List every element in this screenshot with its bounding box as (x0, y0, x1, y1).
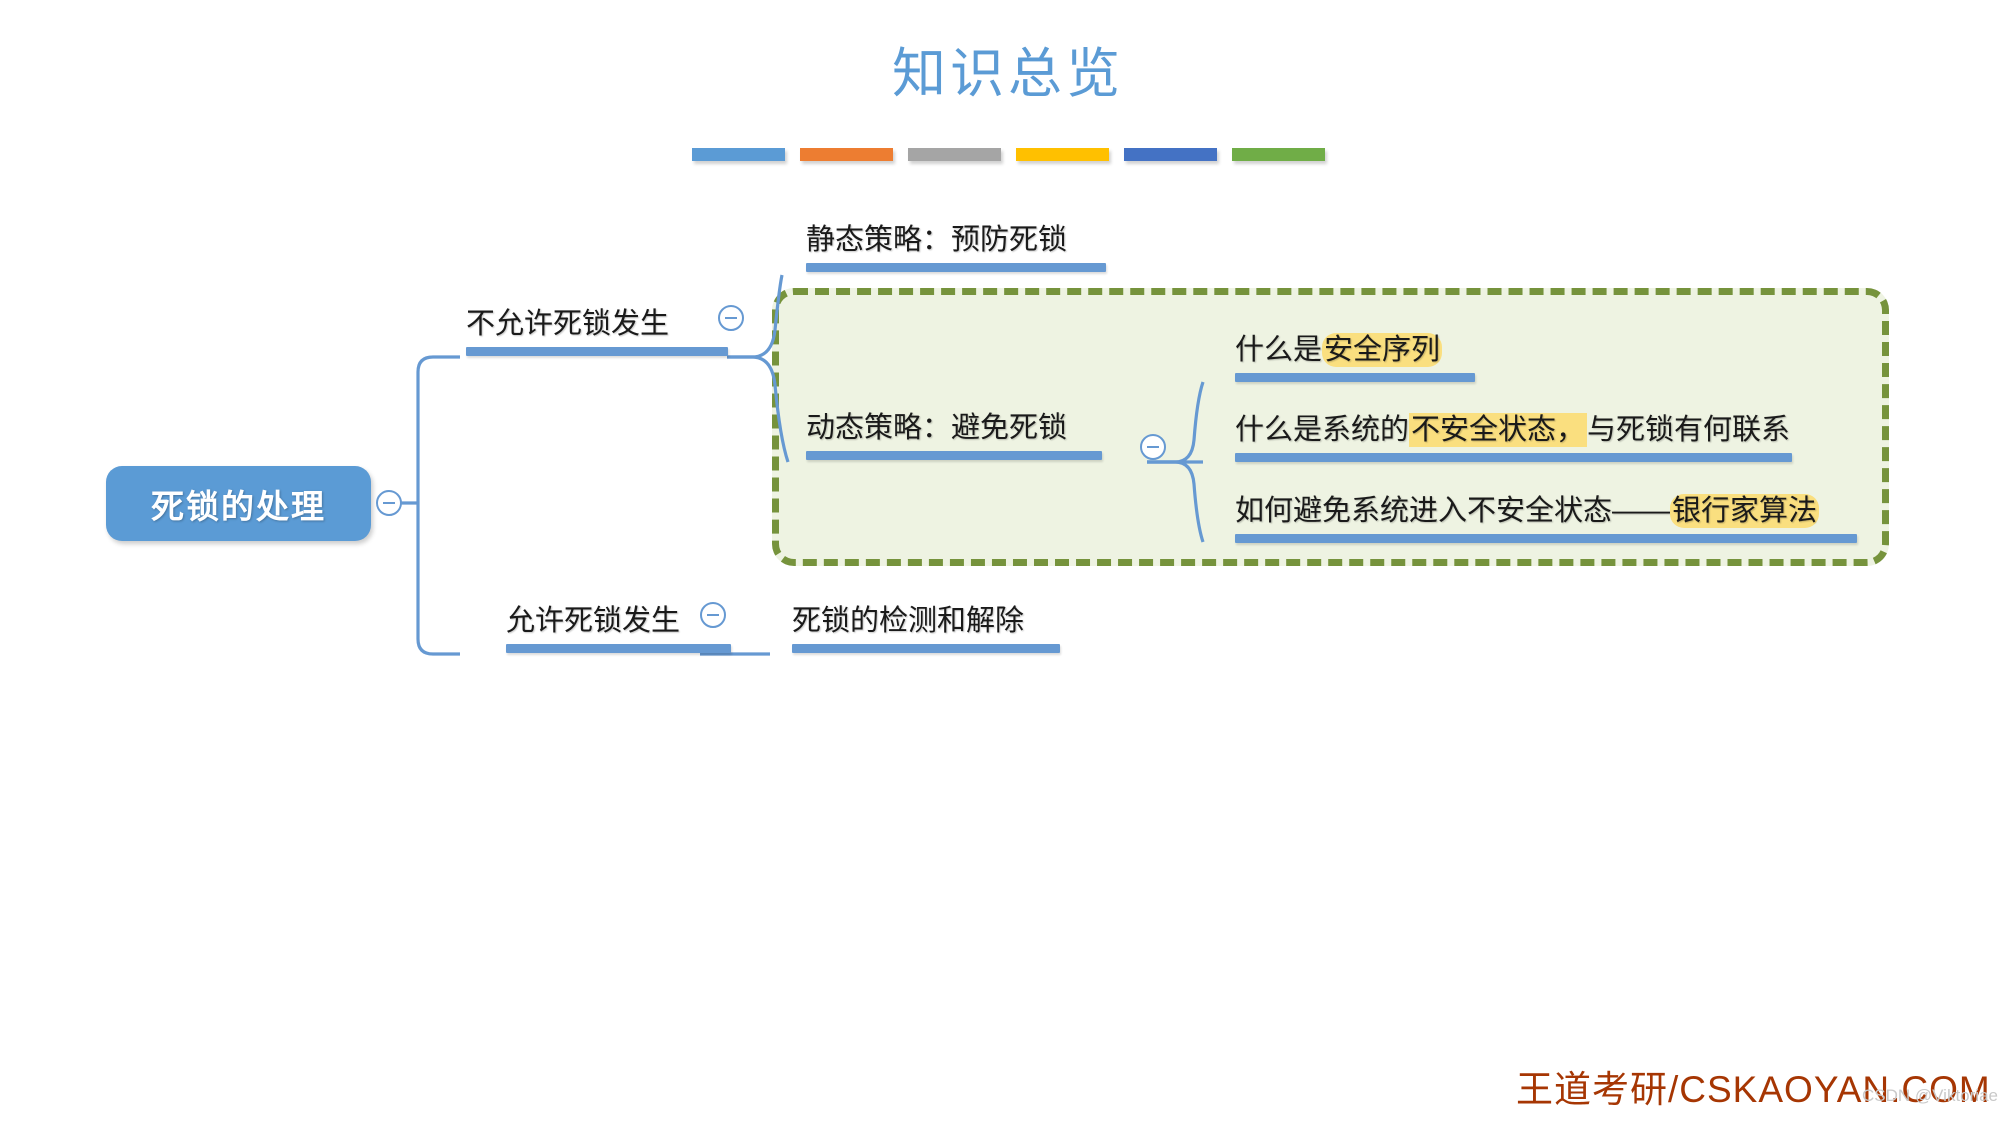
minus-circle-icon-dynamic-strategy[interactable] (1140, 434, 1166, 460)
node-detect-and-release[interactable]: 死锁的检测和解除 (792, 603, 1060, 653)
node-what-is-unsafe-state-label: 什么是系统的不安全状态，与死锁有何联系 (1235, 412, 1790, 448)
node-allow-deadlock-label: 允许死锁发生 (506, 603, 680, 639)
leaf-text-plain: 什么是系统的 (1235, 414, 1409, 446)
node-what-is-safe-sequence[interactable]: 什么是安全序列 (1235, 332, 1475, 382)
bar-blue-light (692, 148, 785, 161)
node-dynamic-strategy[interactable]: 动态策略：避免死锁 (806, 410, 1102, 460)
node-dynamic-strategy-label: 动态策略：避免死锁 (806, 410, 1067, 446)
bar-gray (908, 148, 1001, 161)
node-static-strategy[interactable]: 静态策略：预防死锁 (806, 222, 1106, 272)
node-no-deadlock-label: 不允许死锁发生 (466, 306, 669, 342)
leaf-text-highlighted: 银行家算法 (1670, 494, 1819, 528)
leaf-text-highlighted: 不安全状态， (1409, 413, 1587, 447)
node-underline-bar (806, 451, 1102, 460)
node-what-is-safe-sequence-label: 什么是安全序列 (1235, 332, 1442, 368)
minus-circle-icon-allow-deadlock[interactable] (700, 602, 726, 628)
watermark-label: CSDN @Viktoriae (1862, 1086, 1998, 1106)
bar-green (1232, 148, 1325, 161)
node-allow-deadlock[interactable]: 允许死锁发生 (506, 603, 731, 653)
node-what-is-unsafe-state[interactable]: 什么是系统的不安全状态，与死锁有何联系 (1235, 412, 1792, 462)
bar-orange (800, 148, 893, 161)
node-no-deadlock[interactable]: 不允许死锁发生 (466, 306, 728, 356)
node-underline-bar (466, 347, 728, 356)
slide-canvas: 知识总览 死锁的处理 (0, 0, 2016, 1126)
bar-blue-dark (1124, 148, 1217, 161)
root-node[interactable]: 死锁的处理 (106, 466, 371, 541)
node-bankers-algorithm-label: 如何避免系统进入不安全状态——银行家算法 (1235, 493, 1819, 529)
node-static-strategy-label: 静态策略：预防死锁 (806, 222, 1067, 258)
decorative-color-bars (692, 148, 1325, 161)
root-node-label: 死锁的处理 (151, 480, 326, 528)
node-detect-and-release-label: 死锁的检测和解除 (792, 603, 1024, 639)
node-underline-bar (1235, 534, 1857, 543)
leaf-text-plain: 如何避免系统进入不安全状态—— (1235, 495, 1670, 527)
minus-circle-icon-root[interactable] (376, 490, 402, 516)
node-underline-bar (1235, 373, 1475, 382)
leaf-text-plain: 什么是 (1235, 334, 1322, 366)
bar-yellow (1016, 148, 1109, 161)
node-bankers-algorithm[interactable]: 如何避免系统进入不安全状态——银行家算法 (1235, 493, 1857, 543)
node-underline-bar (506, 644, 731, 653)
page-title: 知识总览 (0, 42, 2016, 106)
node-underline-bar (806, 263, 1106, 272)
minus-circle-icon-no-deadlock[interactable] (718, 305, 744, 331)
leaf-text-plain-tail: 与死锁有何联系 (1587, 414, 1790, 446)
node-underline-bar (1235, 453, 1792, 462)
node-underline-bar (792, 644, 1060, 653)
leaf-text-highlighted: 安全序列 (1322, 333, 1442, 367)
